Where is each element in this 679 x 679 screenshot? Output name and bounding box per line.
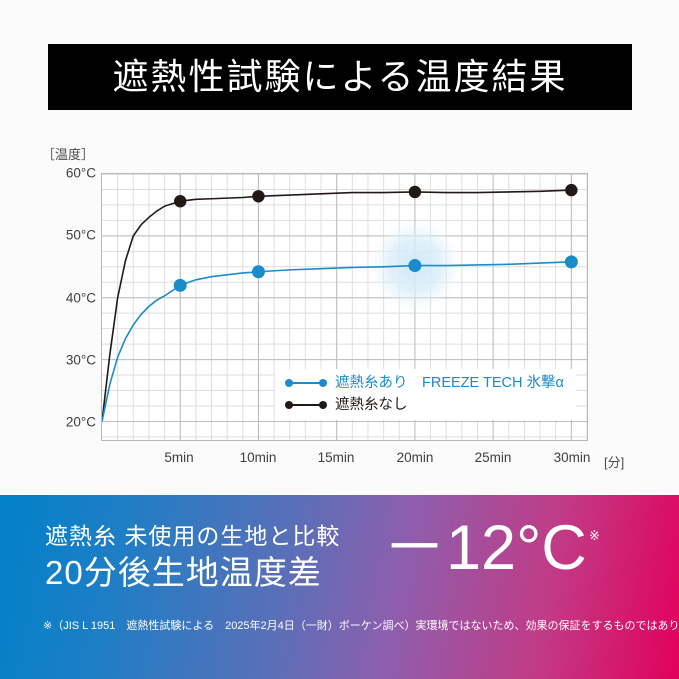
infographic-page: 遮熱性試験による温度結果 ［温度］ [分] 60°C 50°C 40°C 30°… (0, 0, 679, 679)
banner-asterisk-mark: ※ (589, 529, 600, 542)
legend-item-without-yarn: 遮熱糸なし (285, 398, 564, 413)
legend-label-with-yarn: 遮熱糸あり FREEZE TECH 氷撃α (335, 376, 564, 391)
legend-item-with-yarn: 遮熱糸あり FREEZE TECH 氷撃α (285, 376, 564, 391)
y-tick-30: 30°C (40, 353, 96, 368)
title-banner: 遮熱性試験による温度結果 (48, 44, 632, 110)
banner-headline: 20分後生地温度差 (45, 553, 340, 593)
data-point-marker (409, 186, 421, 198)
y-axis-tick-labels: 60°C 50°C 40°C 30°C 20°C (36, 130, 96, 480)
legend-swatch-black-icon (285, 399, 327, 411)
data-point-marker (252, 190, 264, 202)
y-tick-60: 60°C (40, 166, 96, 181)
data-point-marker (252, 265, 265, 278)
page-title: 遮熱性試験による温度結果 (113, 59, 568, 95)
data-point-marker (174, 195, 186, 207)
banner-subheadline: 遮熱糸 未使用の生地と比較 (45, 523, 340, 549)
result-banner: 遮熱糸 未使用の生地と比較 20分後生地温度差 －12°C ※ ※（JIS L … (0, 495, 679, 679)
x-axis-unit-label: [分] (604, 452, 624, 471)
legend-label-without-yarn: 遮熱糸なし (335, 398, 408, 413)
x-tick-5min: 5min (164, 450, 193, 465)
y-tick-40: 40°C (40, 291, 96, 306)
temperature-chart: ［温度］ [分] 60°C 50°C 40°C 30°C 20°C 5min 1… (0, 130, 679, 480)
y-tick-50: 50°C (40, 228, 96, 243)
data-point-marker (565, 255, 578, 268)
x-tick-15min: 15min (318, 450, 355, 465)
banner-footnote: ※（JIS L 1951 遮熱性試験による 2025年2月4日（一財）ボーケン調… (43, 619, 679, 633)
x-tick-30min: 30min (554, 450, 591, 465)
data-point-marker (408, 259, 421, 272)
x-tick-10min: 10min (240, 450, 277, 465)
data-point-marker (174, 279, 187, 292)
chart-legend: 遮熱糸あり FREEZE TECH 氷撃α 遮熱糸なし (275, 369, 576, 420)
legend-swatch-blue-icon (285, 377, 327, 389)
x-tick-20min: 20min (397, 450, 434, 465)
banner-headline-block: 遮熱糸 未使用の生地と比較 20分後生地温度差 (45, 523, 340, 593)
series-markers-without-yarn (174, 184, 578, 208)
y-tick-20: 20°C (40, 415, 96, 430)
x-tick-25min: 25min (475, 450, 512, 465)
banner-temperature-difference: －12°C (383, 517, 587, 580)
data-point-marker (565, 184, 577, 196)
